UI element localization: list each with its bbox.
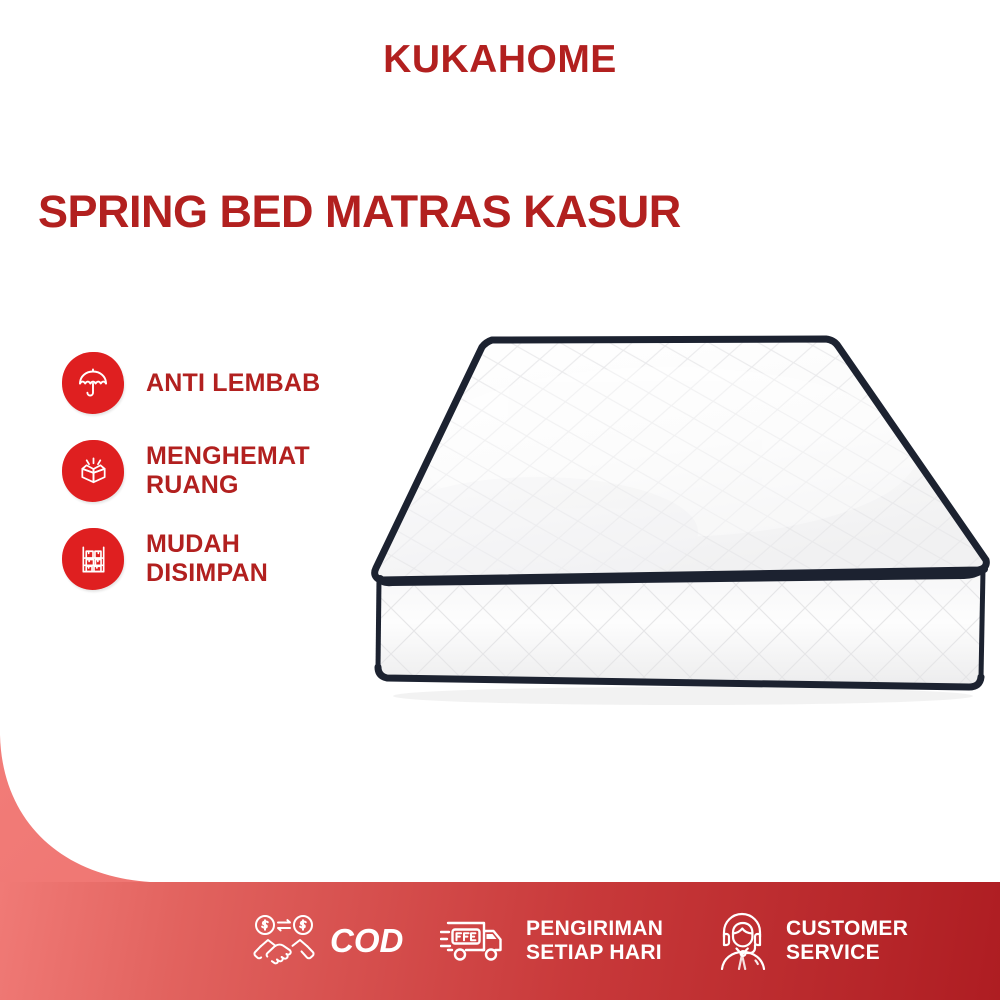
feature-badge-1 (62, 352, 124, 414)
banner-label-cod: COD (330, 922, 403, 959)
shelf-rack-icon (77, 543, 110, 576)
product-advertisement-page: KUKAHOME SPRING BED MATRAS KASUR ANTI LE… (0, 0, 1000, 1000)
handshake-money-icon (252, 914, 316, 968)
headset-agent-icon (712, 912, 772, 970)
banner-item-delivery: PENGIRIMAN SETIAP HARI (440, 914, 663, 968)
banner-item-cod: COD (252, 914, 403, 968)
banner-label-customer-service: CUSTOMER SERVICE (786, 917, 908, 964)
feature-list: ANTI LEMBAB MENGHEMAT RUANG (62, 352, 392, 616)
list-item: MUDAH DISIMPAN (62, 528, 392, 590)
open-box-icon (76, 454, 111, 489)
benefits-banner: COD (0, 882, 1000, 1000)
feature-label-3: MUDAH DISIMPAN (146, 530, 268, 588)
feature-label-2: MENGHEMAT RUANG (146, 442, 310, 500)
umbrella-icon (76, 366, 110, 400)
feature-label-1: ANTI LEMBAB (146, 369, 320, 398)
product-image-mattress (368, 332, 993, 714)
banner-label-delivery: PENGIRIMAN SETIAP HARI (526, 917, 663, 964)
list-item: MENGHEMAT RUANG (62, 440, 392, 502)
feature-badge-2 (62, 440, 124, 502)
list-item: ANTI LEMBAB (62, 352, 392, 414)
banner-item-customer-service: CUSTOMER SERVICE (712, 912, 908, 970)
page-title: SPRING BED MATRAS KASUR (38, 186, 938, 238)
free-delivery-truck-icon (440, 914, 512, 968)
feature-badge-3 (62, 528, 124, 590)
brand-logo-text: KUKAHOME (0, 38, 1000, 82)
